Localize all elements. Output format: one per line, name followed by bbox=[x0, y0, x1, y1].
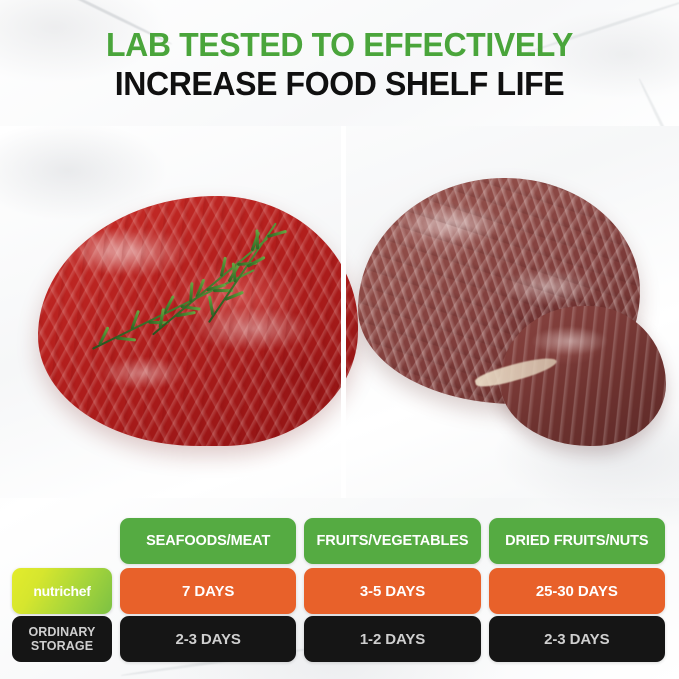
ordinary-seafoods-meat-value: 2-3 DAYS bbox=[120, 616, 296, 662]
column-header-seafoods-meat: SEAFOODS/MEAT bbox=[120, 518, 296, 564]
ordinary-storage-label-line-2: STORAGE bbox=[31, 639, 93, 653]
nutrichef-fruits-vegetables-value: 3-5 DAYS bbox=[304, 568, 480, 614]
infographic-page: LAB TESTED TO EFFECTIVELY INCREASE FOOD … bbox=[0, 0, 679, 679]
comparison-divider bbox=[341, 126, 346, 498]
nutrichef-logo-badge: nutrichef bbox=[12, 568, 112, 614]
comparison-photo bbox=[0, 126, 679, 498]
header-row-spacer bbox=[12, 518, 112, 564]
ordinary-dried-fruits-nuts-value: 2-3 DAYS bbox=[489, 616, 665, 662]
ordinary-fruits-vegetables-value: 1-2 DAYS bbox=[304, 616, 480, 662]
headline: LAB TESTED TO EFFECTIVELY INCREASE FOOD … bbox=[0, 28, 679, 102]
ordinary-storage-label: ORDINARY STORAGE bbox=[28, 625, 95, 653]
headline-line-1: LAB TESTED TO EFFECTIVELY bbox=[10, 28, 669, 63]
nutrichef-logo-text: nutrichef bbox=[33, 583, 90, 599]
ordinary-storage-badge: ORDINARY STORAGE bbox=[12, 616, 112, 662]
table-header-row: SEAFOODS/MEAT FRUITS/VEGETABLES DRIED FR… bbox=[0, 518, 679, 564]
comparison-table: SEAFOODS/MEAT FRUITS/VEGETABLES DRIED FR… bbox=[0, 512, 679, 672]
nutrichef-dried-fruits-nuts-value: 25-30 DAYS bbox=[489, 568, 665, 614]
nutrichef-seafoods-meat-value: 7 DAYS bbox=[120, 568, 296, 614]
table-row: nutrichef 7 DAYS 3-5 DAYS 25-30 DAYS bbox=[0, 568, 679, 614]
column-header-dried-fruits-nuts: DRIED FRUITS/NUTS bbox=[489, 518, 665, 564]
ordinary-storage-label-line-1: ORDINARY bbox=[28, 625, 95, 639]
column-header-fruits-vegetables: FRUITS/VEGETABLES bbox=[304, 518, 480, 564]
headline-line-2: INCREASE FOOD SHELF LIFE bbox=[10, 67, 669, 102]
table-row: ORDINARY STORAGE 2-3 DAYS 1-2 DAYS 2-3 D… bbox=[0, 616, 679, 662]
